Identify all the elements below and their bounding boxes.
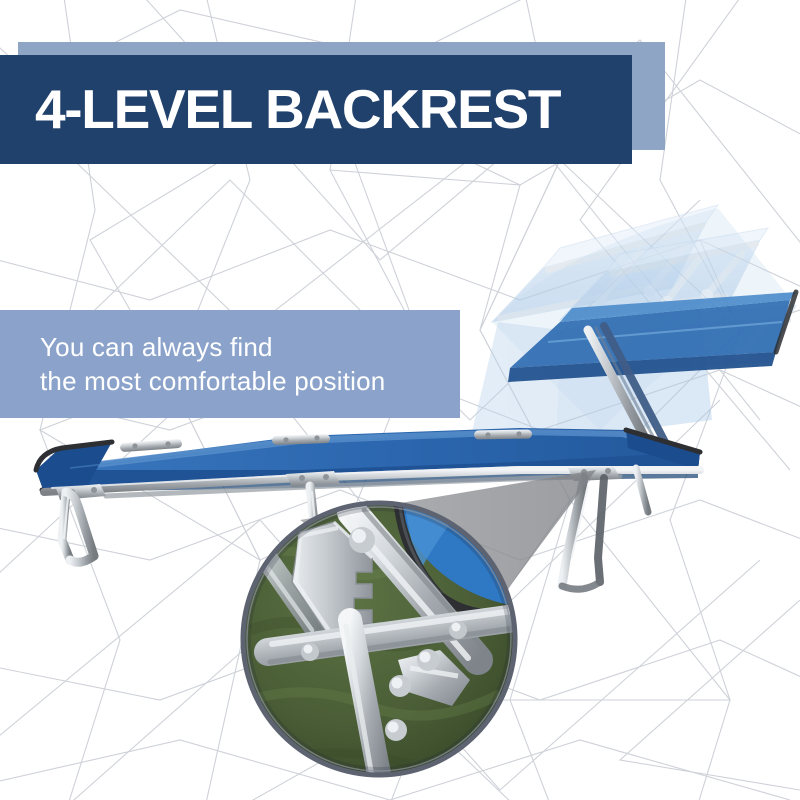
callout-circle — [238, 503, 515, 790]
product-marketing-image: 4-LEVEL BACKREST You can always find the… — [0, 0, 800, 800]
hinge-detail-callout — [0, 0, 800, 800]
callout-rivet-top — [349, 527, 375, 553]
